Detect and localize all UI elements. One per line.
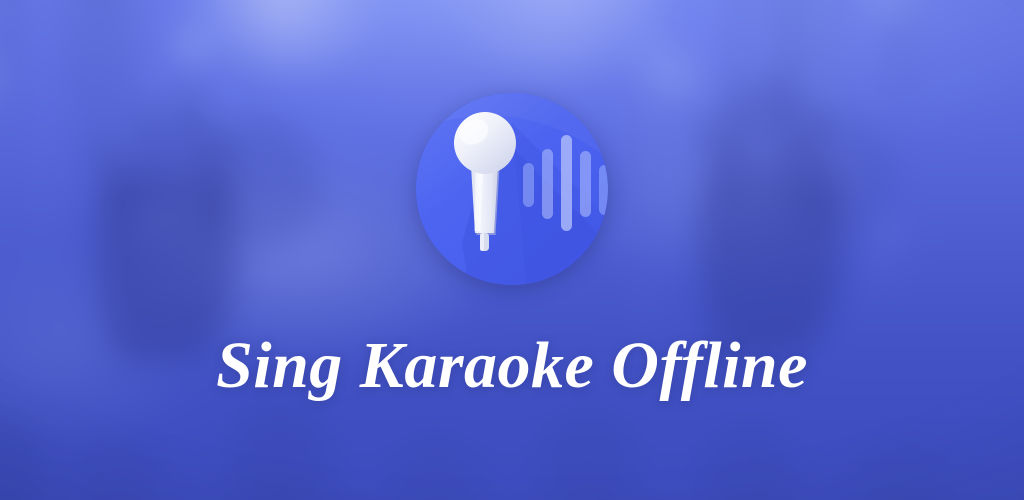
feature-graphic-banner: Sing Karaoke Offline bbox=[0, 0, 1024, 500]
microphone-app-icon bbox=[416, 93, 608, 285]
icon-sheen bbox=[416, 93, 608, 285]
page-title: Sing Karaoke Offline bbox=[0, 333, 1024, 399]
